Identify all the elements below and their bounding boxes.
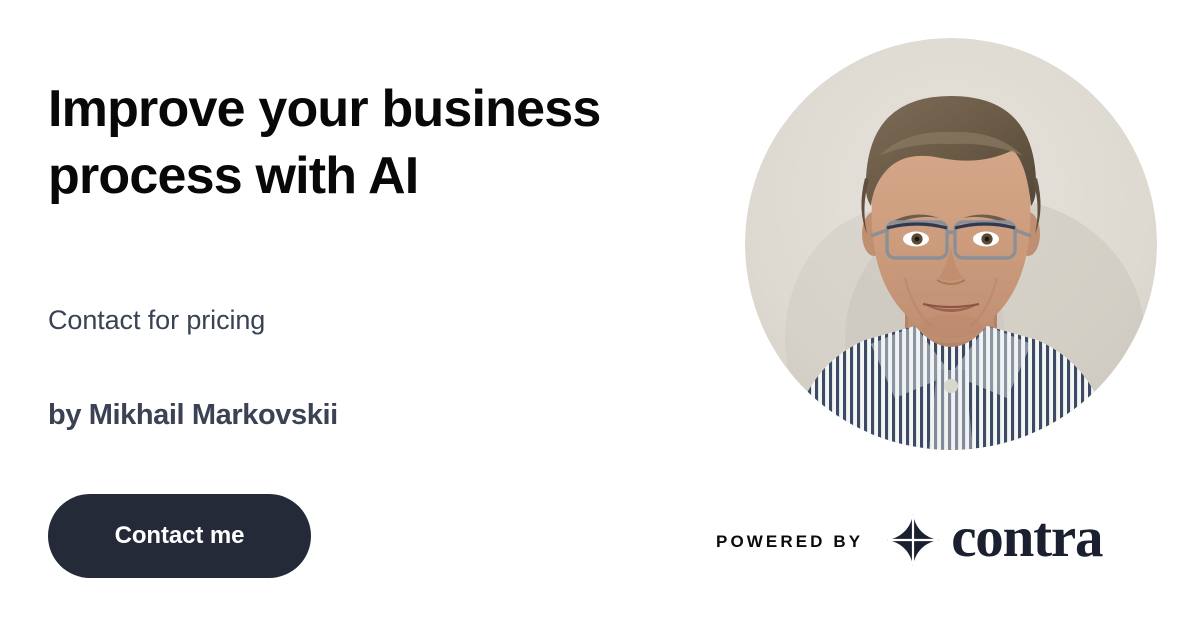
social-share-card: Improve your business process with AI Co… [0,0,1200,630]
portrait-illustration [745,38,1157,450]
avatar [745,38,1157,450]
powered-by-label: Powered by [716,531,863,550]
pricing-label: Contact for pricing [48,303,265,337]
contra-wordmark: contra [951,509,1102,572]
contra-logo[interactable]: contra [885,509,1102,572]
page-title: Improve your business process with AI [48,76,608,210]
powered-by-contra: Powered by contra [716,508,1102,572]
contact-me-button[interactable]: Contact me [48,494,311,578]
author-byline: by Mikhail Markovskii [48,396,338,434]
hero-text-column: Improve your business process with AI Co… [48,0,668,630]
contra-star-icon [885,512,941,568]
